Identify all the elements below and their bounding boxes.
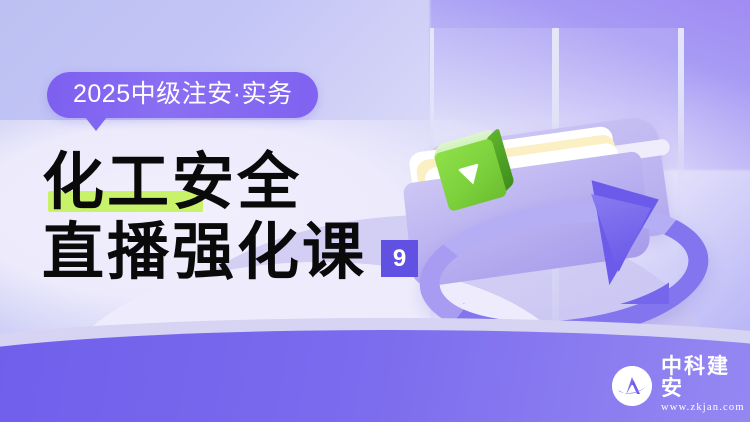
course-promo-banner: 2025中级注安·实务 化工安全 直播强化课 9 中科建安 www.zkjan.… — [0, 0, 750, 422]
course-category-badge: 2025中级注安·实务 — [47, 72, 318, 118]
zkjan-circle-logo-icon — [612, 366, 652, 406]
headline-block: 化工安全 直播强化课 9 — [42, 152, 418, 292]
brand-website-url: www.zkjan.com — [661, 400, 750, 416]
badge-tail — [85, 117, 107, 131]
headline-line-2: 直播强化课 — [42, 222, 367, 284]
brand-logo: 中科建安 www.zkjan.com — [612, 356, 750, 416]
headline-line-1-row: 化工安全 — [42, 152, 418, 214]
headline-line-2-row: 直播强化课 9 — [42, 222, 418, 284]
badge-pill: 2025中级注安·实务 — [47, 72, 318, 118]
folder-illustration — [395, 95, 725, 355]
brand-text-block: 中科建安 www.zkjan.com — [661, 356, 750, 416]
episode-number-badge: 9 — [381, 240, 418, 277]
headline-line-1: 化工安全 — [42, 152, 302, 214]
badge-label: 2025中级注安·实务 — [73, 80, 292, 108]
brand-name-cn: 中科建安 — [661, 356, 750, 400]
